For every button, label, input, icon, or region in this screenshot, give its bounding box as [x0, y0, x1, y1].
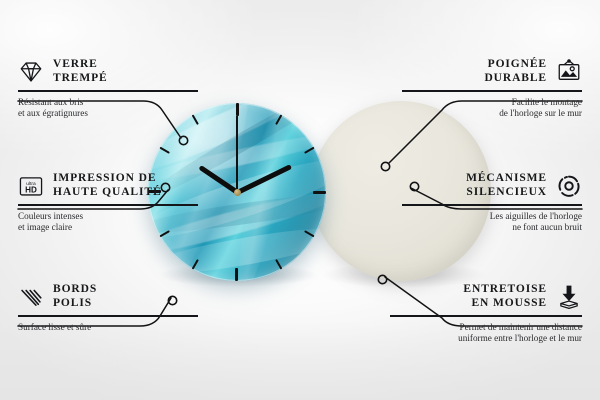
callout-verre-trempe: VERRE TREMPÉ Résistant aux bris et aux é…: [18, 58, 198, 119]
callout-divider: [402, 90, 582, 92]
callout-description-line: Surface lisse et sûre: [18, 322, 198, 333]
callout-divider: [390, 315, 582, 317]
foam-spacer-icon: [556, 284, 582, 310]
callout-mecanisme-silencieux: MÉCANISME SILENCIEUX Les aiguilles de l'…: [402, 172, 582, 233]
callout-bords-polis: BORDS POLIS Surface lisse et sûre: [18, 283, 198, 333]
gear-icon: [556, 173, 582, 199]
callout-divider: [18, 315, 198, 317]
callout-title: POIGNÉE DURABLE: [484, 58, 547, 85]
callout-title: IMPRESSION DE HAUTE QUALITÉ: [53, 172, 162, 199]
second-hand: [236, 116, 238, 192]
callout-divider: [18, 90, 198, 92]
hour-marker: [236, 192, 238, 281]
callout-description-line: Les aiguilles de l'horloge: [402, 211, 582, 222]
callout-header: ultra HD IMPRESSION DE HAUTE QUALITÉ: [18, 172, 198, 199]
callout-header: POIGNÉE DURABLE: [402, 58, 582, 85]
callout-title: VERRE TREMPÉ: [53, 58, 108, 85]
clock-center-cap: [234, 189, 241, 196]
callout-description-line: de l'horloge sur le mur: [402, 108, 582, 119]
callout-poignee-durable: POIGNÉE DURABLE Facilite le montage de l…: [402, 58, 582, 119]
polished-edges-icon: [18, 284, 44, 310]
callout-header: MÉCANISME SILENCIEUX: [402, 172, 582, 199]
infographic-canvas: VERRE TREMPÉ Résistant aux bris et aux é…: [0, 0, 600, 400]
diamond-icon: [18, 59, 44, 85]
ultra-hd-icon: ultra HD: [18, 173, 44, 199]
hour-marker: [237, 191, 326, 193]
callout-description-line: Résistant aux bris: [18, 97, 198, 108]
callout-title: BORDS POLIS: [53, 283, 97, 310]
callout-header: ENTRETOISE EN MOUSSE: [390, 283, 582, 310]
callout-description-line: Facilite le montage: [402, 97, 582, 108]
callout-divider: [18, 204, 198, 206]
callout-description-line: Permet de maintenir une distance: [390, 322, 582, 333]
callout-divider: [402, 204, 582, 206]
framed-picture-icon: [556, 59, 582, 85]
callout-title: ENTRETOISE EN MOUSSE: [463, 283, 547, 310]
callout-description-line: uniforme entre l'horloge et le mur: [390, 333, 582, 344]
svg-text:HD: HD: [25, 185, 37, 194]
callout-entretoise-en-mousse: ENTRETOISE EN MOUSSE Permet de maintenir…: [390, 283, 582, 344]
callout-description-line: ne font aucun bruit: [402, 222, 582, 233]
callout-title: MÉCANISME SILENCIEUX: [466, 172, 547, 199]
callout-description-line: Couleurs intenses: [18, 211, 198, 222]
callout-description-line: et aux égratignures: [18, 108, 198, 119]
callout-header: BORDS POLIS: [18, 283, 198, 310]
callout-description-line: et image claire: [18, 222, 198, 233]
callout-impression-haute-qualite: ultra HD IMPRESSION DE HAUTE QUALITÉ Cou…: [18, 172, 198, 233]
callout-header: VERRE TREMPÉ: [18, 58, 198, 85]
